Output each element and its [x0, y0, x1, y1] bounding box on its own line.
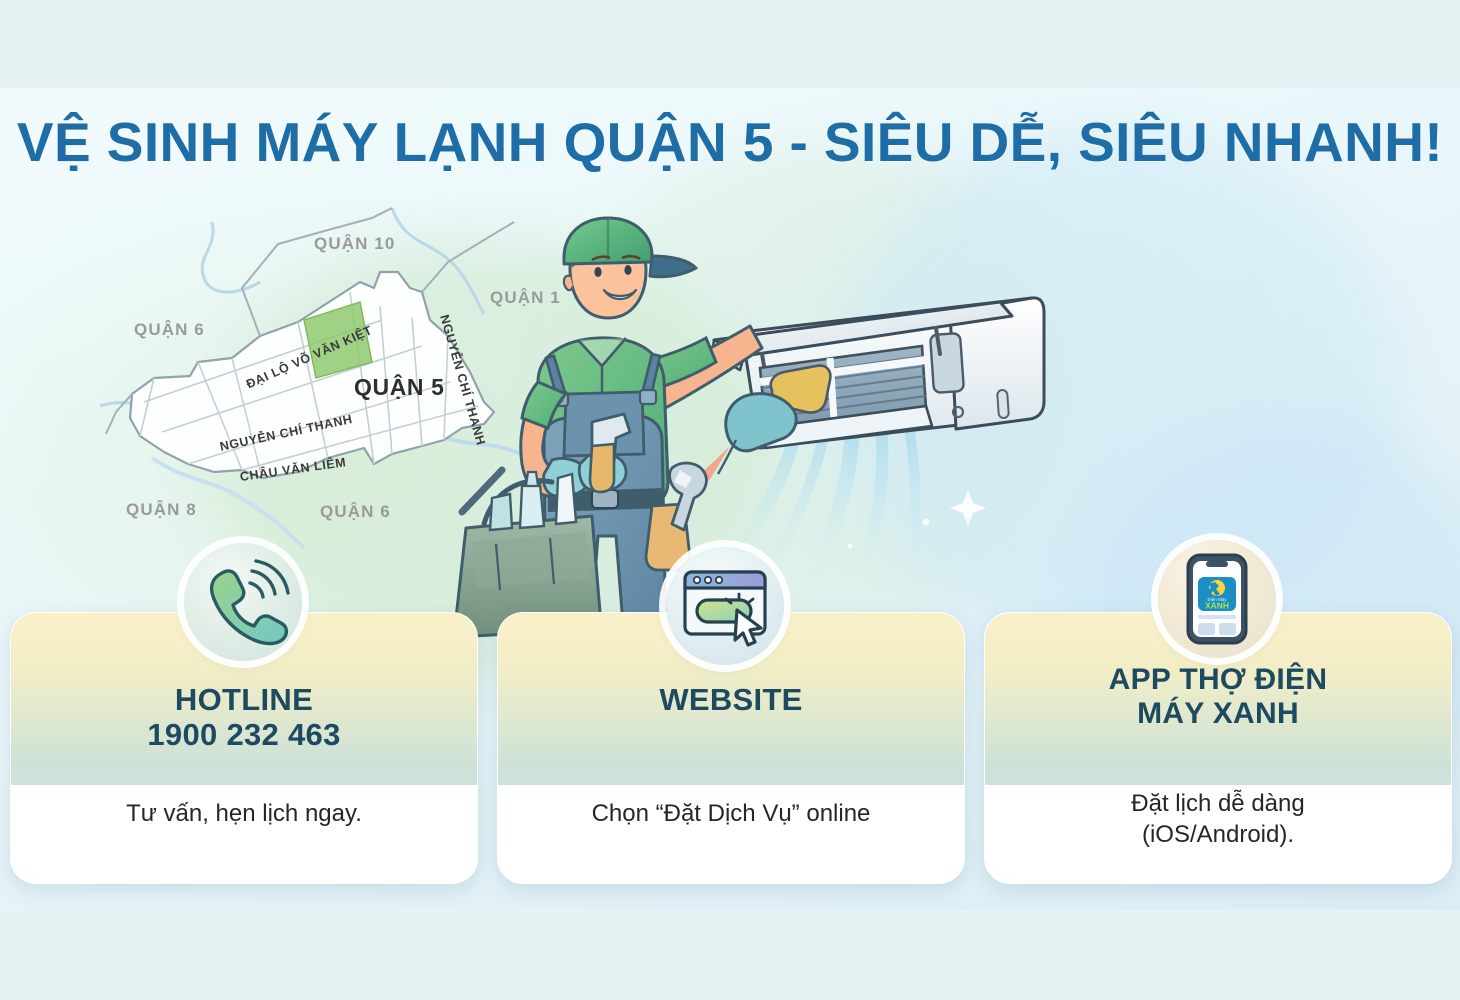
contact-card-row: HOTLINE 1900 232 463 Tư vấn, hẹn lịch ng… — [0, 612, 1460, 910]
card-hotline-title: HOTLINE — [11, 683, 477, 718]
card-website-description: Chọn “Đặt Dịch Vụ” online — [498, 799, 964, 830]
letterbox-bottom — [0, 910, 1460, 1000]
page-title: VỆ SINH MÁY LẠNH QUẬN 5 - SIÊU DỄ, SIÊU … — [0, 110, 1460, 174]
card-hotline-description: Tư vấn, hẹn lịch ngay. — [11, 799, 477, 830]
map-label-quan-8: QUẬN 8 — [126, 500, 197, 520]
card-app-description: Đặt lịch dễ dàng (iOS/Android). — [985, 789, 1451, 850]
map-label-quan-5: QUẬN 5 — [354, 374, 445, 401]
letterbox-top — [0, 0, 1460, 88]
card-app-heading: APP THỢ ĐIỆN MÁY XANH — [985, 663, 1451, 730]
map-label-quan-6-west: QUẬN 6 — [134, 320, 205, 340]
phone-call-icon — [184, 543, 302, 661]
mobile-app-icon: Điện Máy XANH — [1158, 540, 1276, 658]
app-brand-line2: XANH — [1205, 601, 1229, 611]
card-app-title-line1: APP THỢ ĐIỆN — [985, 663, 1451, 697]
card-hotline-phone[interactable]: 1900 232 463 — [11, 718, 477, 753]
card-hotline-heading: HOTLINE 1900 232 463 — [11, 683, 477, 752]
card-website-title: WEBSITE — [498, 683, 964, 718]
map-label-quan-6-south: QUẬN 6 — [320, 502, 391, 522]
card-app-description-line2: (iOS/Android). — [985, 820, 1451, 851]
poster-content: VỆ SINH MÁY LẠNH QUẬN 5 - SIÊU DỄ, SIÊU … — [0, 88, 1460, 910]
card-app-description-line1: Đặt lịch dễ dàng — [985, 789, 1451, 820]
card-website-heading: WEBSITE — [498, 683, 964, 718]
infographic-canvas: VỆ SINH MÁY LẠNH QUẬN 5 - SIÊU DỄ, SIÊU … — [0, 0, 1460, 1000]
browser-click-icon — [666, 547, 784, 665]
map-label-quan-10: QUẬN 10 — [314, 234, 395, 254]
card-app-title-line2: MÁY XANH — [985, 697, 1451, 731]
